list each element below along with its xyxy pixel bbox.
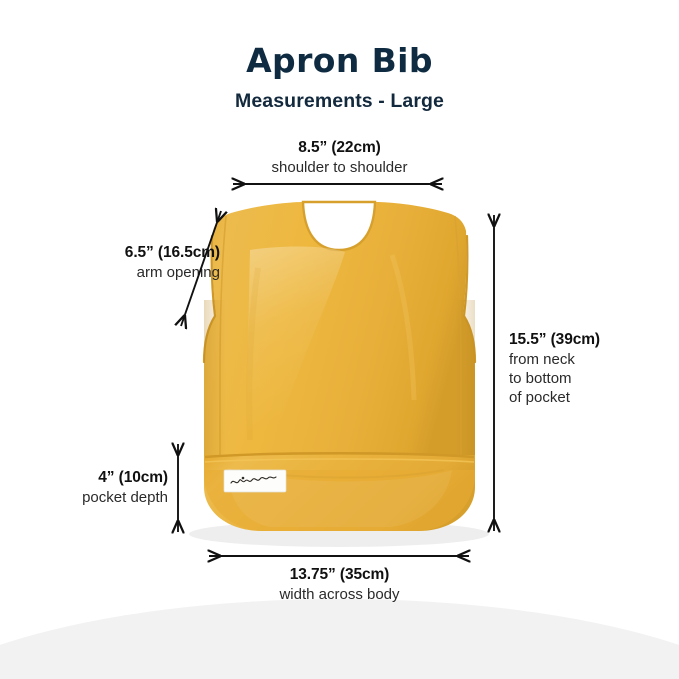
measurement-label-pocket-depth: 4” (10cm) pocket depth <box>40 468 168 507</box>
measurement-desc-body-width: width across body <box>0 585 679 604</box>
measurement-desc-neck-line1: from neck <box>509 350 669 369</box>
page-subtitle: Measurements - Large <box>0 90 679 113</box>
bib-shading-right <box>455 300 475 470</box>
measurement-desc-arm-opening: arm opening <box>60 263 220 282</box>
measurement-desc-pocket-depth: pocket depth <box>40 488 168 507</box>
measurement-diagram-page: Apron Bib Measurements - Large 8.5” (22c… <box>0 0 679 679</box>
measurement-value-body-width: 13.75” (35cm) <box>0 565 679 585</box>
measurement-value-neck-to-pocket: 15.5” (39cm) <box>509 330 669 350</box>
measurement-value-shoulder: 8.5” (22cm) <box>0 138 679 158</box>
measurement-value-arm-opening: 6.5” (16.5cm) <box>60 243 220 263</box>
measurement-desc-neck-line2: to bottom <box>509 369 669 388</box>
title-block: Apron Bib Measurements - Large <box>0 44 679 113</box>
measurement-label-arm-opening: 6.5” (16.5cm) arm opening <box>60 243 220 282</box>
measurement-label-neck-to-pocket: 15.5” (39cm) from neck to bottom of pock… <box>509 330 669 407</box>
measurement-desc-neck-line3: of pocket <box>509 388 669 407</box>
page-title: Apron Bib <box>0 44 679 79</box>
bib-shading-left <box>204 300 226 470</box>
brand-label-mark <box>242 477 245 480</box>
measurement-label-shoulder: 8.5” (22cm) shoulder to shoulder <box>0 138 679 177</box>
brand-label <box>224 470 286 492</box>
measurement-desc-shoulder: shoulder to shoulder <box>0 158 679 177</box>
measurement-label-body-width: 13.75” (35cm) width across body <box>0 565 679 604</box>
measurement-value-pocket-depth: 4” (10cm) <box>40 468 168 488</box>
